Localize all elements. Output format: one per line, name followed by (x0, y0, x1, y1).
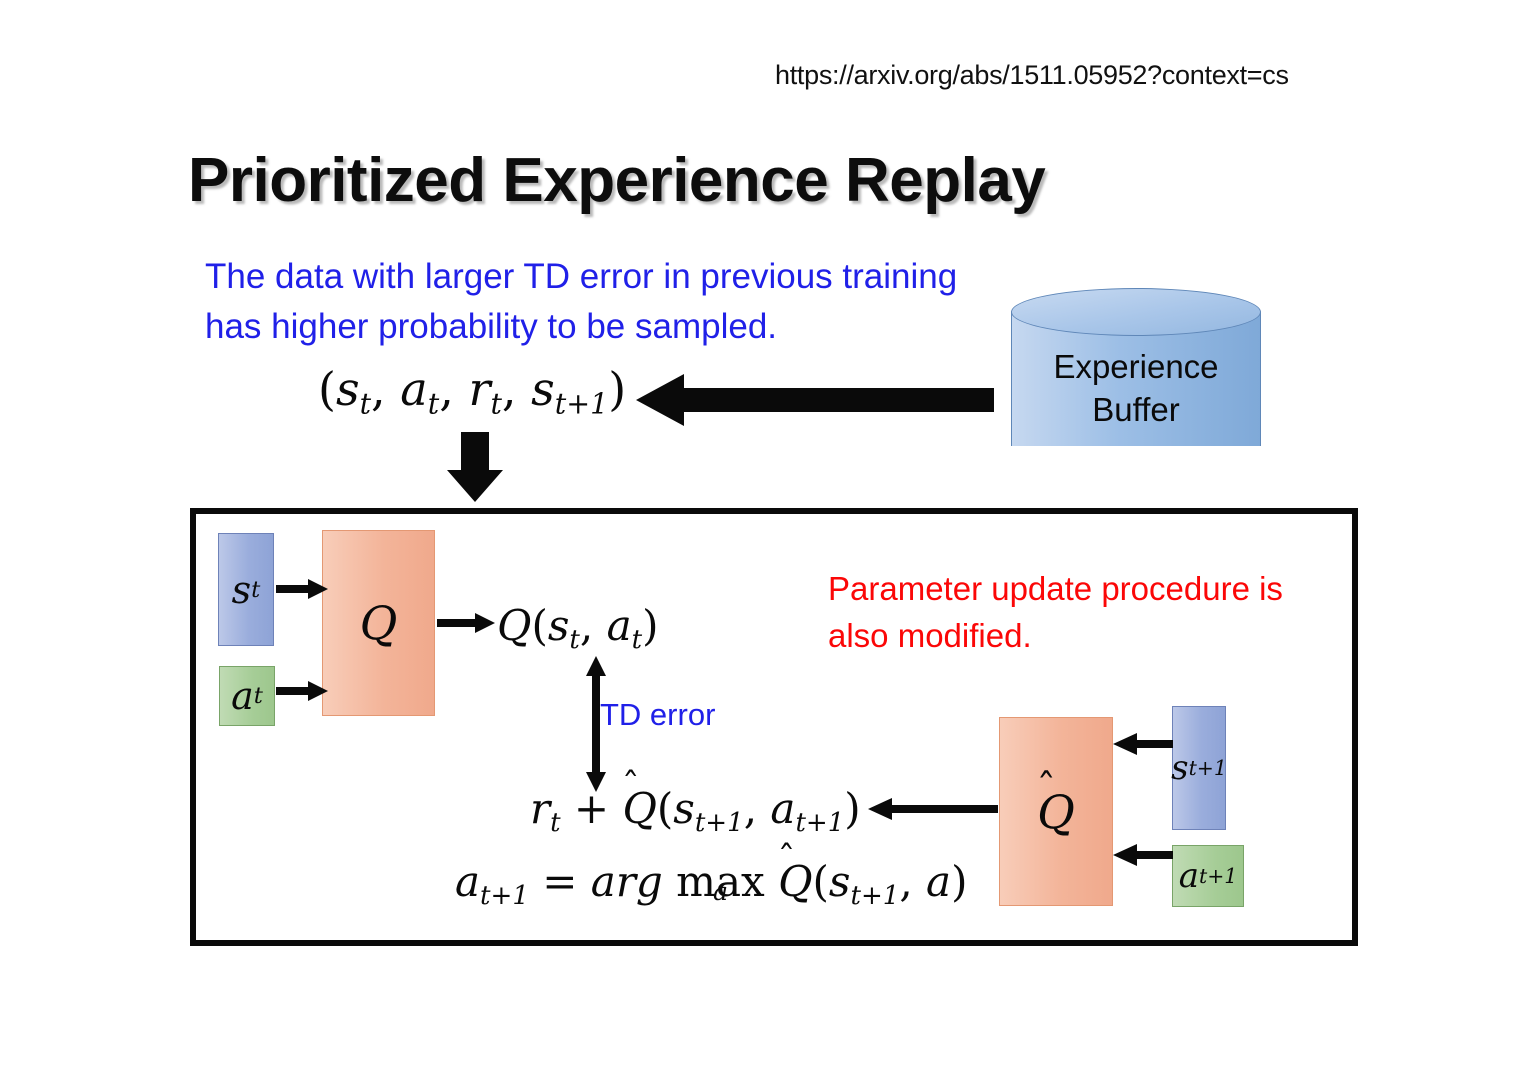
tuple-action-sub: t (428, 388, 439, 421)
tuple-close-paren: ) (608, 362, 626, 416)
argmax-max-subscript: a (676, 877, 765, 906)
action-next-sub: t+1 (1199, 864, 1237, 888)
qhat-to-target-arrow (868, 798, 998, 820)
qvalue-close-paren: ) (642, 601, 658, 650)
experience-buffer-cylinder: Experience Buffer (1011, 288, 1263, 470)
action-next-symbol: a (1179, 856, 1199, 896)
red-note-text: Parameter update procedure is also modif… (828, 566, 1328, 660)
action-to-q-arrow (276, 680, 328, 702)
q-network-box: Q (322, 530, 435, 716)
target-state-sub: t+1 (695, 808, 744, 838)
arrow-left-icon (868, 798, 998, 820)
target-plus: + (561, 784, 623, 833)
tuple-next-state: s (531, 362, 555, 416)
argmax-qhat-letter: Q (778, 857, 812, 906)
argmax-state-sub: t+1 (850, 881, 899, 911)
target-open-paren: ( (657, 784, 673, 833)
target-action: a (770, 784, 795, 833)
q-value-formula: Q(st, at) (497, 601, 658, 655)
arrow-left-icon (1113, 733, 1173, 755)
q-network-symbol: Q (360, 596, 398, 650)
tuple-comma-1: , (371, 362, 400, 416)
blue-note-text: The data with larger TD error in previou… (205, 252, 1005, 351)
qvalue-open-paren: ( (531, 601, 547, 650)
action-next-to-qhat-arrow (1113, 844, 1173, 866)
state-next-sub: t+1 (1189, 756, 1227, 780)
q-to-output-arrow (437, 612, 495, 634)
state-current-box: st (218, 533, 274, 646)
buffer-to-tuple-arrow (636, 372, 994, 428)
tuple-action: a (400, 362, 427, 416)
tuple-to-panel-arrow (445, 432, 505, 502)
argmax-free-action: a (926, 857, 951, 906)
arrow-right-icon (276, 680, 328, 702)
tuple-open-paren: ( (318, 362, 336, 416)
tuple-comma-3: , (502, 362, 531, 416)
block-arrow-down-icon (445, 432, 505, 502)
argmax-qhat: ̂Q (778, 857, 812, 906)
tuple-state: s (336, 362, 360, 416)
target-network-qhat: ̂Q (1037, 785, 1075, 839)
argmax-state: s (829, 857, 851, 906)
argmax-formula: at+1 = arg maxa ̂Q(st+1, a) (455, 857, 967, 911)
argmax-comma: , (899, 857, 926, 906)
target-qhat-letter: Q (622, 784, 656, 833)
slide-title: Prioritized Experience Replay (188, 145, 1045, 216)
argmax-action-sub: t+1 (480, 881, 529, 911)
target-network-box: ̂Q (999, 717, 1113, 906)
td-error-label: TD error (600, 697, 715, 733)
argmax-equals: = (529, 857, 591, 906)
qvalue-state-sub: t (569, 625, 579, 655)
state-current-sub: t (251, 577, 260, 603)
argmax-max-operator: maxa (676, 857, 765, 906)
cylinder-top-ellipse (1011, 288, 1261, 336)
arrow-right-icon (276, 578, 328, 600)
target-state: s (673, 784, 695, 833)
tuple-comma-2: , (439, 362, 468, 416)
qvalue-state: s (548, 601, 570, 650)
state-next-symbol: s (1171, 748, 1188, 788)
target-reward-sub: t (550, 808, 560, 838)
argmax-arg: arg (591, 857, 663, 906)
tuple-next-state-sub: t+1 (555, 388, 609, 421)
action-current-box: at (219, 666, 275, 726)
state-to-q-arrow (276, 578, 328, 600)
argmax-action: a (455, 857, 480, 906)
qvalue-action-sub: t (632, 625, 642, 655)
tuple-reward-sub: t (490, 388, 501, 421)
buffer-label: Experience Buffer (1011, 346, 1261, 432)
tuple-state-sub: t (360, 388, 371, 421)
buffer-label-line1: Experience (1011, 346, 1261, 389)
source-url: https://arxiv.org/abs/1511.05952?context… (775, 60, 1289, 91)
transition-tuple-formula: (st, at, rt, st+1) (318, 362, 626, 421)
action-current-symbol: a (231, 674, 254, 718)
action-current-sub: t (254, 683, 263, 709)
block-arrow-left-icon (636, 372, 994, 428)
slide-canvas: https://arxiv.org/abs/1511.05952?context… (0, 0, 1524, 1080)
td-target-formula: rt + ̂Q(st+1, at+1) (530, 784, 861, 838)
target-qhat: ̂Q (622, 784, 656, 833)
arrow-left-icon (1113, 844, 1173, 866)
qvalue-action: a (607, 601, 632, 650)
target-close-paren: ) (844, 784, 860, 833)
target-reward: r (530, 784, 550, 833)
arrow-right-icon (437, 612, 495, 634)
argmax-open-paren: ( (813, 857, 829, 906)
state-next-box: st+1 (1172, 706, 1226, 830)
action-next-box: at+1 (1172, 845, 1244, 907)
qvalue-q: Q (497, 601, 531, 650)
target-comma: , (744, 784, 771, 833)
qvalue-comma: , (580, 601, 607, 650)
argmax-close-paren: ) (951, 857, 967, 906)
target-network-symbol: Q (1037, 785, 1075, 839)
state-next-to-qhat-arrow (1113, 733, 1173, 755)
target-action-sub: t+1 (795, 808, 844, 838)
buffer-label-line2: Buffer (1011, 389, 1261, 432)
tuple-reward: r (468, 362, 490, 416)
state-current-symbol: s (232, 568, 252, 612)
